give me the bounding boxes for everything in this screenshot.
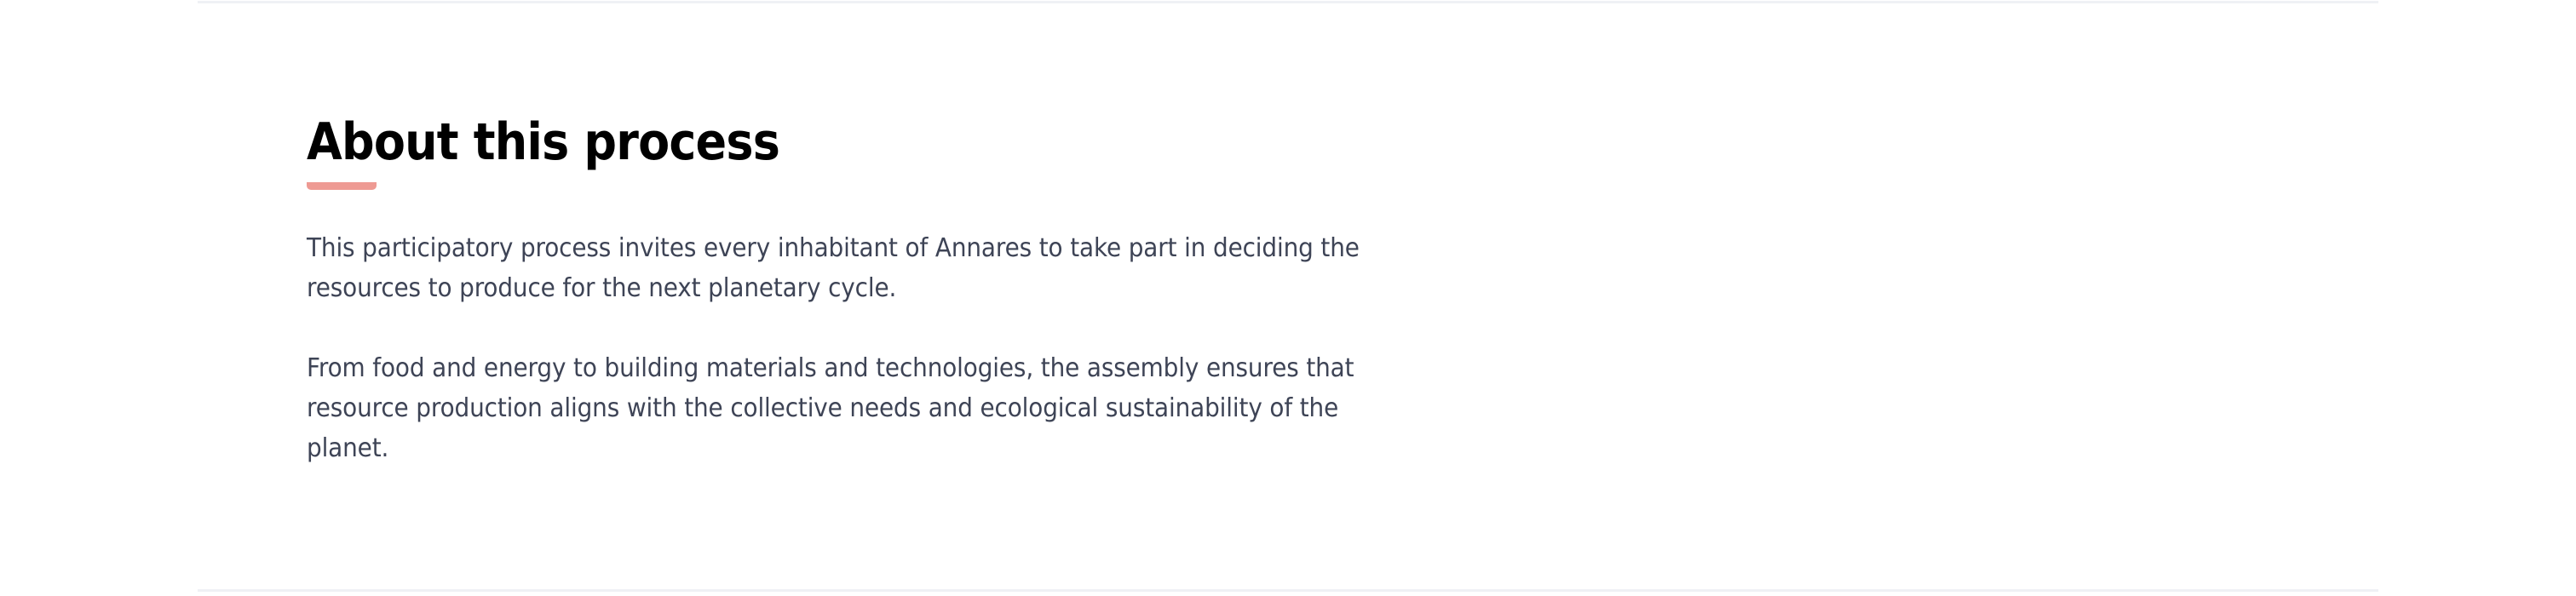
section-divider-bottom (198, 589, 2378, 592)
section-divider-top (198, 1, 2378, 3)
about-paragraph-1: This participatory process invites every… (307, 228, 1372, 308)
about-paragraph-2: From food and energy to building materia… (307, 348, 1372, 468)
heading-accent-underline (307, 182, 377, 190)
page-title: About this process (307, 114, 779, 170)
about-process-body: This participatory process invites every… (307, 228, 1452, 468)
about-process-section: About this process This participatory pr… (0, 0, 2576, 596)
